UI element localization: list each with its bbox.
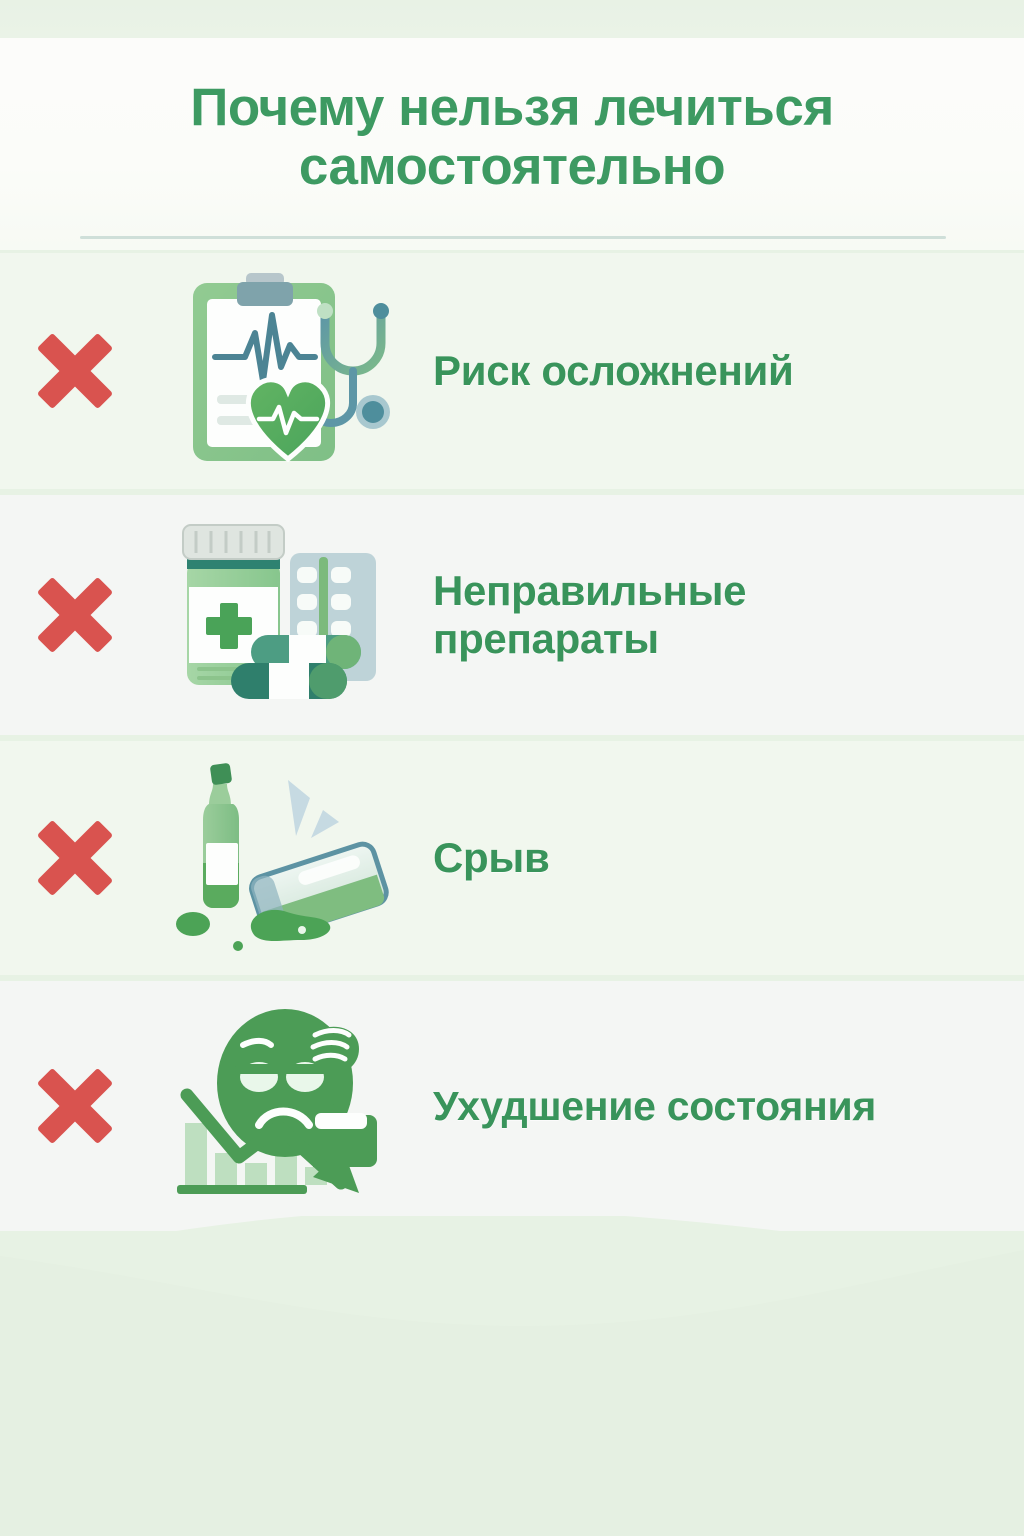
page-title: Почему нельзя лечиться самостоятельно xyxy=(72,78,952,197)
cross-cell xyxy=(0,1063,150,1149)
list-item: Срыв xyxy=(0,741,1024,975)
icon-cell xyxy=(150,271,425,471)
red-cross-icon xyxy=(32,1063,118,1149)
sad-face-declining-chart-icon xyxy=(163,1001,413,1211)
list-item-label-line-1: Неправильные xyxy=(433,567,746,614)
reason-list: Риск осложнений xyxy=(0,253,1024,1237)
bottom-wave-decoration xyxy=(0,1216,1024,1536)
red-cross-icon xyxy=(32,328,118,414)
list-item-label-line-2: препараты xyxy=(433,615,659,662)
page-title-line-2: самостоятельно xyxy=(72,137,952,196)
cross-cell xyxy=(0,815,150,901)
icon-cell xyxy=(150,515,425,715)
page-title-line-1: Почему нельзя лечиться xyxy=(72,78,952,137)
list-item-label: Ухудшение состояния xyxy=(433,1083,984,1130)
icon-cell xyxy=(150,1001,425,1211)
title-divider xyxy=(80,236,946,239)
list-item: Ухудшение состояния xyxy=(0,981,1024,1231)
icon-cell xyxy=(150,758,425,958)
list-item-label: Риск осложнений xyxy=(433,347,984,395)
cross-cell xyxy=(0,328,150,414)
red-cross-icon xyxy=(32,572,118,658)
cross-cell xyxy=(0,572,150,658)
list-item-label: Неправильные препараты xyxy=(433,567,984,663)
top-accent-strip xyxy=(0,0,1024,38)
label-cell: Неправильные препараты xyxy=(425,567,1024,663)
pill-bottle-blister-capsules-icon xyxy=(163,515,413,715)
list-item-label: Срыв xyxy=(433,834,984,882)
label-cell: Риск осложнений xyxy=(425,347,1024,395)
label-cell: Ухудшение состояния xyxy=(425,1083,1024,1130)
label-cell: Срыв xyxy=(425,834,1024,882)
red-cross-icon xyxy=(32,815,118,901)
clipboard-ecg-heart-stethoscope-icon xyxy=(163,271,413,471)
header: Почему нельзя лечиться самостоятельно xyxy=(0,38,1024,250)
list-item: Риск осложнений xyxy=(0,253,1024,489)
list-item: Неправильные препараты xyxy=(0,495,1024,735)
infographic-poster: Почему нельзя лечиться самостоятельно xyxy=(0,0,1024,1536)
bottle-spilled-glass-icon xyxy=(163,758,413,958)
